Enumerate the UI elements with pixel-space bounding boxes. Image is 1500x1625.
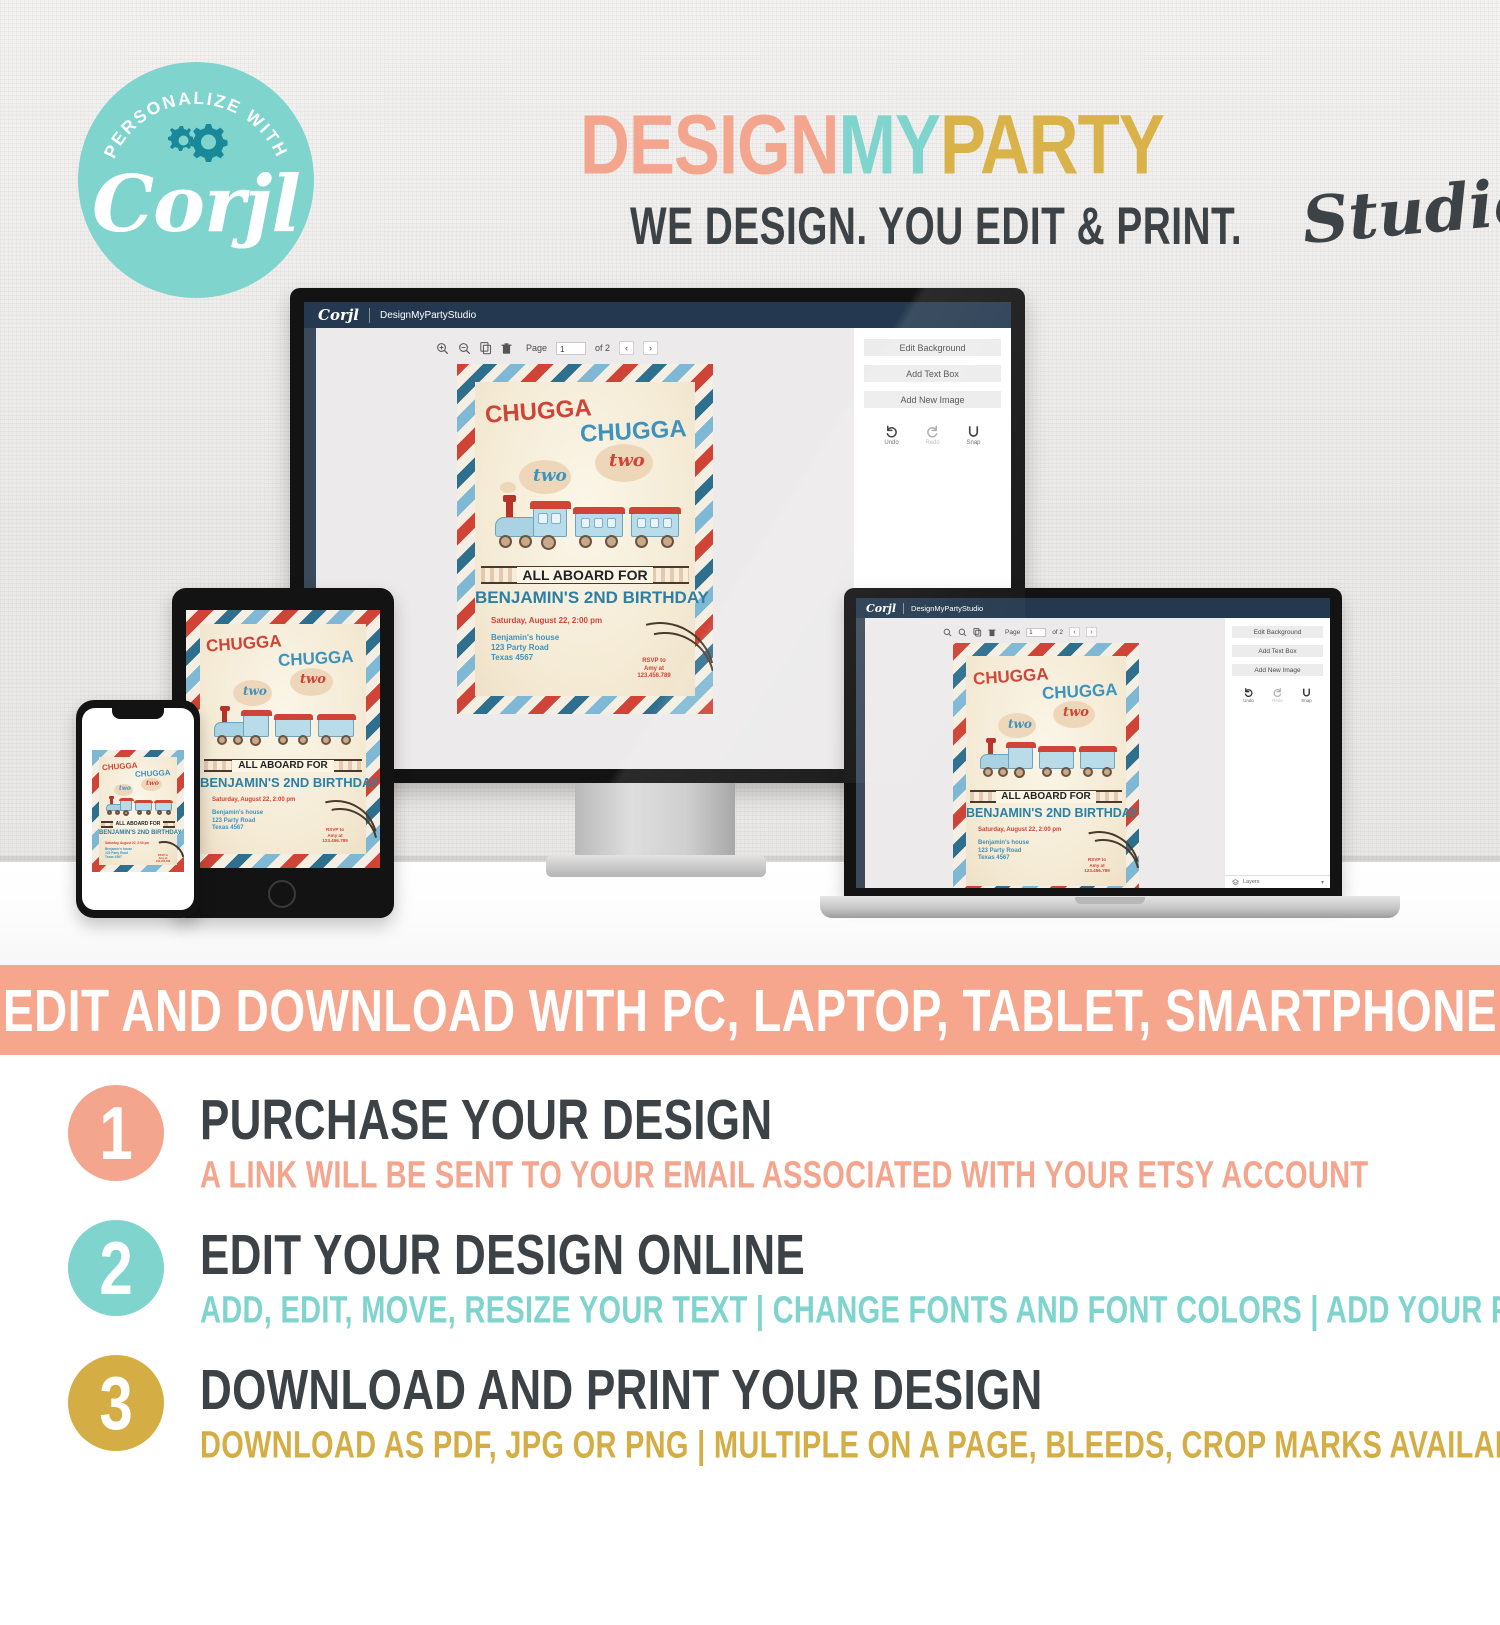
step-item-3: 3 DOWNLOAD AND PRINT YOUR DESIGN DOWNLOA… xyxy=(0,1355,1500,1458)
laptop-snap-button[interactable]: Snap xyxy=(1301,687,1312,703)
card-address-block: Benjamin's house 123 Party Road Texas 45… xyxy=(491,633,559,663)
phone-train-wheel-3 xyxy=(123,810,129,816)
laptop-page-number-input[interactable]: 1 xyxy=(1026,628,1046,637)
topbar-divider xyxy=(369,308,370,323)
laptop-trash-icon[interactable] xyxy=(988,628,996,637)
wagon-2-window-2 xyxy=(650,518,659,528)
step-title-1: PURCHASE YOUR DESIGN xyxy=(200,1089,1368,1153)
wagon-1-window-2 xyxy=(594,518,603,528)
wagon-2-window-1 xyxy=(637,518,646,528)
laptop-base-notch xyxy=(1075,897,1145,904)
tablet-card-two-right: two xyxy=(300,672,326,687)
train-wheel-5 xyxy=(605,535,618,548)
tablet-card-two-left: two xyxy=(243,684,267,698)
snap-label: Snap xyxy=(966,440,980,446)
card-inner-canvas: CHUGGA CHUGGA two two xyxy=(475,382,695,696)
train-wheel-6 xyxy=(635,535,648,548)
card-date-text: Saturday, August 22, 2:00 pm xyxy=(491,616,602,625)
personalize-with-corjl-badge: PERSONALIZE WITH Corjl xyxy=(78,62,314,298)
step-title-3: DOWNLOAD AND PRINT YOUR DESIGN xyxy=(200,1359,1500,1423)
tablet-train-wheel-6 xyxy=(321,735,331,745)
tablet-card-address-block: Benjamin's house 123 Party Road Texas 45… xyxy=(212,810,263,833)
laptop-card-rsvp-block: RSVP to Amy at 123.456.789 xyxy=(1074,857,1120,874)
card-chugga-2: CHUGGA xyxy=(579,415,687,449)
laptop-canvas-pane: Page 1 of 2 ‹ › CHUGGA CHUGGA two two xyxy=(865,618,1225,888)
undo-button[interactable]: Undo xyxy=(884,424,899,446)
step-subtitle-1: A LINK WILL BE SENT TO YOUR EMAIL ASSOCI… xyxy=(200,1155,1368,1198)
phone-card-date-text: Saturday, August 22, 2:00 pm xyxy=(105,841,149,845)
phone-card-inner-canvas: CHUGGA CHUGGA two two xyxy=(99,757,177,865)
laptop-topbar-divider xyxy=(903,603,904,614)
step-number-badge-3: 3 xyxy=(68,1355,164,1451)
brand-header: DesignMyParty Studio WE DESIGN. YOU EDIT… xyxy=(580,72,1440,170)
tablet-locomotive-cab xyxy=(243,715,269,737)
add-new-image-button[interactable]: Add New Image xyxy=(864,391,1001,408)
laptop-next-page-button[interactable]: › xyxy=(1086,627,1097,637)
laptop-corjl-logo[interactable]: Corjl xyxy=(866,602,896,615)
cloud-puff-small xyxy=(500,482,516,493)
card-rsvp-line-3: 123.456.789 xyxy=(623,673,685,681)
laptop-left-rail[interactable] xyxy=(856,618,865,888)
phone-train-wheel-4 xyxy=(137,810,142,815)
laptop-card-all-aboard-text: ALL ABOARD FOR xyxy=(996,791,1096,803)
invitation-card-phone[interactable]: CHUGGA CHUGGA two two xyxy=(92,750,184,872)
phone-card-two-right: two xyxy=(146,779,159,787)
redo-icon xyxy=(925,424,940,439)
step-subtitle-2: ADD, EDIT, MOVE, RESIZE YOUR TEXT | CHAN… xyxy=(200,1290,1500,1333)
tablet-card-chugga-1: CHUGGA xyxy=(205,631,282,656)
train-wheel-1 xyxy=(499,535,512,548)
tablet-train-wheel-1 xyxy=(217,735,227,745)
phone-train-wheel-1 xyxy=(107,810,112,815)
card-chugga-1: CHUGGA xyxy=(484,394,592,429)
undo-label: Undo xyxy=(884,440,898,446)
layers-chevron-down-icon[interactable]: ▾ xyxy=(1321,879,1324,886)
laptop-train-wheel-1 xyxy=(983,767,993,777)
wagon-1-window-1 xyxy=(581,518,590,528)
tablet-home-button[interactable] xyxy=(268,880,296,908)
redo-button[interactable]: Redo xyxy=(925,424,940,446)
history-actions-row: Undo Redo Snap xyxy=(854,424,1011,446)
card-address-line-2: 123 Party Road xyxy=(491,643,559,653)
tablet-card-date-text: Saturday, August 22, 2:00 pm xyxy=(212,797,295,803)
laptop-card-address-line-3: Texas 4567 xyxy=(978,855,1029,863)
phone-card-address-line-3: Texas 4567 xyxy=(105,855,132,859)
laptop-editor-right-sidebar: Edit Background Add Text Box Add New Ima… xyxy=(1225,618,1330,888)
monitor-stand-base xyxy=(546,855,766,877)
phone-card-two-left: two xyxy=(119,785,131,792)
tablet-card-all-aboard-text: ALL ABOARD FOR xyxy=(232,760,334,772)
laptop-add-new-image-button[interactable]: Add New Image xyxy=(1232,664,1323,676)
tablet-wagon-2-roof xyxy=(317,714,356,720)
laptop-snap-label: Snap xyxy=(1301,698,1312,703)
laptop-train-wagon-2 xyxy=(1080,751,1115,769)
laptop-train-funnel-stack xyxy=(988,742,993,754)
smartphone-mockup: CHUGGA CHUGGA two two xyxy=(76,700,200,918)
laptop-zoom-in-icon[interactable] xyxy=(943,628,952,637)
tablet-train-wheel-4 xyxy=(278,735,288,745)
phone-card-birthday-headline: BENJAMIN'S 2ND BIRTHDAY xyxy=(99,830,177,836)
step-number-1: 1 xyxy=(99,1090,132,1176)
card-two-left: two xyxy=(533,466,567,486)
laptop-train-wheel-7 xyxy=(1102,767,1112,777)
card-rsvp-block: RSVP to Amy at 123.456.789 xyxy=(623,658,685,681)
train-funnel-stack xyxy=(506,501,513,517)
laptop-card-two-right: two xyxy=(1063,705,1089,720)
phone-card-rsvp-line-3: 123.456.789 xyxy=(151,860,175,863)
phone-card-curved-track-1 xyxy=(135,833,184,872)
step-number-2: 2 xyxy=(99,1225,132,1311)
card-all-aboard-text: ALL ABOARD FOR xyxy=(517,567,653,583)
wagon-2-roof xyxy=(629,507,681,514)
tablet-train-illustration xyxy=(210,706,358,753)
locomotive-window-1 xyxy=(538,513,548,524)
card-birthday-headline: BENJAMIN'S 2ND BIRTHDAY xyxy=(475,588,695,608)
laptop-undo-icon xyxy=(1243,687,1254,698)
locomotive-window-2 xyxy=(551,513,561,524)
invitation-card-laptop[interactable]: CHUGGA CHUGGA two two xyxy=(953,643,1139,888)
prev-page-button[interactable]: ‹ xyxy=(619,341,634,355)
snap-icon xyxy=(966,424,981,439)
laptop-duplicate-icon[interactable] xyxy=(973,628,982,637)
editor-canvas-pane: Page 1 of 2 ‹ › CHUGGA CHUGGA two xyxy=(316,328,854,769)
phone-train-wheel-7 xyxy=(166,810,171,815)
redo-label: Redo xyxy=(925,440,939,446)
laptop-prev-page-button[interactable]: ‹ xyxy=(1069,627,1080,637)
corjl-editor-laptop: Corjl DesignMyPartyStudio Page 1 of 2 ‹ … xyxy=(856,598,1330,888)
next-page-button[interactable]: › xyxy=(643,341,658,355)
shop-name-label: DesignMyPartyStudio xyxy=(380,310,476,321)
step-subtitle-3: DOWNLOAD AS PDF, JPG OR PNG | MULTIPLE O… xyxy=(200,1425,1500,1468)
wagon-2-window-3 xyxy=(663,518,672,528)
laptop-page-label: Page xyxy=(1005,629,1020,636)
step-content-1: PURCHASE YOUR DESIGN A LINK WILL BE SENT… xyxy=(164,1085,1368,1188)
phone-train-wheel-2 xyxy=(115,810,120,815)
laptop-screen: Corjl DesignMyPartyStudio Page 1 of 2 ‹ … xyxy=(856,598,1330,888)
phone-card-all-aboard-text: ALL ABOARD FOR xyxy=(113,821,163,828)
train-wheel-7 xyxy=(661,535,674,548)
wagon-1-window-3 xyxy=(607,518,616,528)
laptop-card-address-line-1: Benjamin's house xyxy=(978,840,1029,848)
brand-word-party: Party xyxy=(940,65,1164,199)
phone-wagon-1-roof xyxy=(134,800,153,803)
tablet-screen: CHUGGA CHUGGA two two xyxy=(186,610,380,868)
wagon-1-roof xyxy=(573,507,625,514)
laptop-undo-label: Undo xyxy=(1243,698,1254,703)
laptop-card-chugga-2: CHUGGA xyxy=(1042,680,1119,704)
step-content-3: DOWNLOAD AND PRINT YOUR DESIGN DOWNLOAD … xyxy=(164,1355,1500,1458)
laptop-train-wheel-3 xyxy=(1014,767,1025,778)
card-address-line-3: Texas 4567 xyxy=(491,653,559,663)
brand-tagline: WE DESIGN. YOU EDIT & PRINT. xyxy=(630,198,1242,257)
laptop-redo-icon xyxy=(1272,687,1283,698)
tablet-card-address-line-1: Benjamin's house xyxy=(212,810,263,818)
layers-label: Layers xyxy=(1243,879,1260,885)
laptop-locomotive-cab xyxy=(1008,747,1033,769)
card-two-right: two xyxy=(609,450,645,471)
laptop-train-illustration xyxy=(976,738,1119,784)
phone-train-wheel-5 xyxy=(146,810,151,815)
phone-screen: CHUGGA CHUGGA two two xyxy=(82,708,194,910)
phone-train-illustration xyxy=(104,796,174,819)
tablet-train-funnel-stack xyxy=(222,710,227,722)
card-address-line-1: Benjamin's house xyxy=(491,633,559,643)
tablet-card-birthday-headline: BENJAMIN'S 2ND BIRTHDAY xyxy=(200,775,366,790)
step-number-badge-1: 1 xyxy=(68,1085,164,1181)
layers-panel-toggle[interactable]: Layers ▾ xyxy=(1225,875,1330,888)
laptop-card-address-line-2: 123 Party Road xyxy=(978,848,1029,856)
laptop-train-wheel-6 xyxy=(1083,767,1093,777)
laptop-shop-name-label: DesignMyPartyStudio xyxy=(911,604,983,613)
step-title-2: EDIT YOUR DESIGN ONLINE xyxy=(200,1224,1500,1288)
laptop-card-inner-canvas: CHUGGA CHUGGA two two xyxy=(966,656,1126,886)
train-wheel-4 xyxy=(579,535,592,548)
laptop-redo-label: Redo xyxy=(1272,698,1283,703)
tablet-wagon-1-roof xyxy=(274,714,313,720)
laptop-train-wheel-5 xyxy=(1061,767,1071,777)
how-it-works-steps: 1 PURCHASE YOUR DESIGN A LINK WILL BE SE… xyxy=(0,1085,1500,1490)
trash-icon[interactable] xyxy=(501,342,512,355)
laptop-card-birthday-headline: BENJAMIN'S 2ND BIRTHDAY xyxy=(966,806,1126,820)
add-text-box-button[interactable]: Add Text Box xyxy=(864,365,1001,382)
step-number-3: 3 xyxy=(99,1360,132,1446)
tablet-card-rsvp-line-3: 123.456.789 xyxy=(312,838,358,844)
tablet-train-wheel-7 xyxy=(341,735,351,745)
laptop-card-two-left: two xyxy=(1008,717,1032,731)
laptop-page-total-label: of 2 xyxy=(1052,629,1063,636)
step-item-2: 2 EDIT YOUR DESIGN ONLINE ADD, EDIT, MOV… xyxy=(0,1220,1500,1323)
brand-word-my: My xyxy=(839,65,941,199)
tablet-card-inner-canvas: CHUGGA CHUGGA two two xyxy=(200,624,366,854)
phone-card-rsvp-block: RSVP to Amy at 123.456.789 xyxy=(151,854,175,864)
card-rsvp-line-1: RSVP to xyxy=(623,658,685,666)
tablet-locomotive-roof xyxy=(241,710,272,716)
laptop-add-text-box-button[interactable]: Add Text Box xyxy=(1232,645,1323,657)
tablet-train-wheel-2 xyxy=(233,735,243,745)
page-number-input[interactable]: 1 xyxy=(556,342,586,355)
undo-icon xyxy=(884,424,899,439)
tablet-card-address-line-3: Texas 4567 xyxy=(212,825,263,833)
zoom-in-icon[interactable] xyxy=(436,342,449,355)
invitation-card-desktop[interactable]: CHUGGA CHUGGA two two xyxy=(457,364,713,714)
laptop-card-chugga-1: CHUGGA xyxy=(972,664,1049,689)
laptop-mockup: Corjl DesignMyPartyStudio Page 1 of 2 ‹ … xyxy=(820,588,1340,918)
laptop-train-wagon-1 xyxy=(1039,751,1074,769)
brand-word-design: Design xyxy=(580,65,839,199)
duplicate-icon[interactable] xyxy=(480,342,492,355)
corjl-logo[interactable]: Corjl xyxy=(318,306,359,324)
edit-background-button[interactable]: Edit Background xyxy=(864,339,1001,356)
phone-notch xyxy=(112,708,164,719)
laptop-zoom-out-icon[interactable] xyxy=(958,628,967,637)
tablet-train-wheel-5 xyxy=(298,735,308,745)
laptop-train-wheel-4 xyxy=(1042,767,1052,777)
editor-topbar: Corjl DesignMyPartyStudio xyxy=(304,302,1011,328)
laptop-card-rsvp-line-3: 123.456.789 xyxy=(1074,868,1120,874)
phone-locomotive-roof xyxy=(119,798,134,801)
canvas-toolbar: Page 1 of 2 ‹ › xyxy=(436,341,658,355)
page-total-label: of 2 xyxy=(595,343,610,353)
step-item-1: 1 PURCHASE YOUR DESIGN A LINK WILL BE SE… xyxy=(0,1085,1500,1188)
laptop-train-wheel-2 xyxy=(998,767,1008,777)
zoom-out-icon[interactable] xyxy=(458,342,471,355)
phone-card-chugga-1: CHUGGA xyxy=(102,761,138,772)
brand-title: DesignMyParty xyxy=(580,72,1440,192)
phone-train-wheel-6 xyxy=(157,810,162,815)
layers-icon xyxy=(1232,879,1239,886)
laptop-card-date-text: Saturday, August 22, 2:00 pm xyxy=(978,827,1061,833)
laptop-wagon-2-roof xyxy=(1079,746,1117,752)
locomotive-roof xyxy=(530,501,571,509)
phone-wagon-2-roof xyxy=(154,800,173,803)
step-number-badge-2: 2 xyxy=(68,1220,164,1316)
laptop-card-address-block: Benjamin's house 123 Party Road Texas 45… xyxy=(978,840,1029,863)
laptop-locomotive-roof xyxy=(1006,742,1036,748)
page-label: Page xyxy=(526,343,547,353)
tablet-card-address-line-2: 123 Party Road xyxy=(212,818,263,826)
badge-script-label: Corjl xyxy=(78,166,314,244)
invitation-card-tablet[interactable]: CHUGGA CHUGGA two two xyxy=(186,610,380,868)
laptop-undo-button[interactable]: Undo xyxy=(1243,687,1254,703)
train-wheel-3 xyxy=(541,535,556,550)
train-illustration xyxy=(489,495,685,557)
tablet-train-wheel-3 xyxy=(250,735,261,746)
tablet-card-rsvp-block: RSVP to Amy at 123.456.789 xyxy=(312,827,358,844)
monitor-stand-neck xyxy=(575,783,735,861)
locomotive-boiler xyxy=(495,517,535,537)
snap-button[interactable]: Snap xyxy=(966,424,981,446)
laptop-wagon-1-roof xyxy=(1038,746,1076,752)
laptop-edit-background-button[interactable]: Edit Background xyxy=(1232,626,1323,638)
step-content-2: EDIT YOUR DESIGN ONLINE ADD, EDIT, MOVE,… xyxy=(164,1220,1500,1323)
laptop-editor-topbar: Corjl DesignMyPartyStudio xyxy=(856,598,1330,618)
banner-text: EDIT AND DOWNLOAD WITH PC, LAPTOP, TABLE… xyxy=(3,975,1497,1045)
laptop-snap-icon xyxy=(1301,687,1312,698)
phone-card-address-block: Benjamin's house 123 Party Road Texas 45… xyxy=(105,847,132,859)
tablet-mockup: CHUGGA CHUGGA two two xyxy=(172,588,394,918)
laptop-redo-button[interactable]: Redo xyxy=(1272,687,1283,703)
card-rsvp-line-2: Amy at xyxy=(623,666,685,674)
device-compatibility-banner: EDIT AND DOWNLOAD WITH PC, LAPTOP, TABLE… xyxy=(0,965,1500,1055)
laptop-history-actions-row: Undo Redo Snap xyxy=(1225,687,1330,703)
train-wheel-2 xyxy=(519,535,532,548)
laptop-canvas-toolbar: Page 1 of 2 ‹ › xyxy=(943,627,1097,637)
